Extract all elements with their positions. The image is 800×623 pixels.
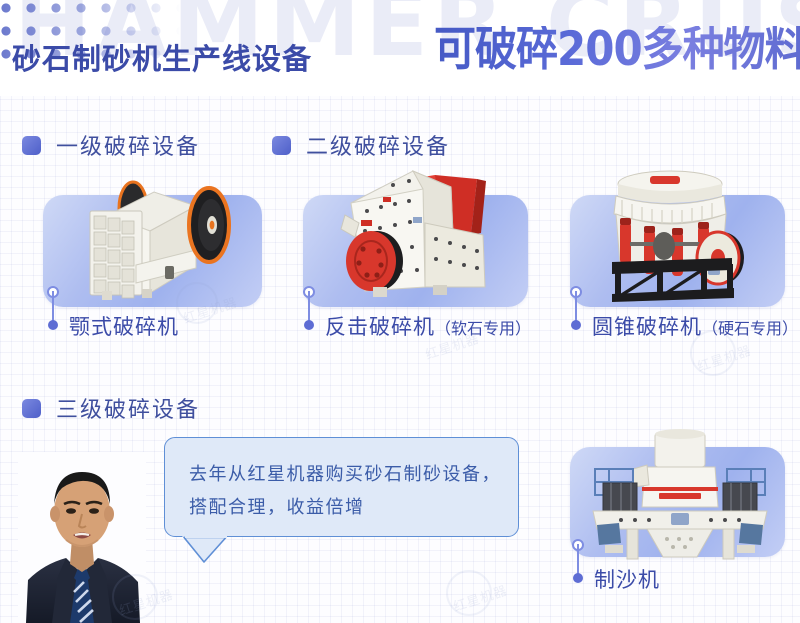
- connector-dot-icon: [304, 320, 314, 330]
- section-label: 一级破碎设备: [56, 129, 200, 161]
- watermark-ring-icon: [176, 282, 218, 324]
- connector-dot-icon: [48, 320, 58, 330]
- bullet-square-icon: [272, 136, 291, 155]
- jaw-crusher-photo: [46, 165, 261, 305]
- section-heading-tertiary: 三级破碎设备: [22, 392, 200, 424]
- header-banner: HAMMER CRUSHER 砂石制砂机生产线设备 可破碎200多种物料: [0, 0, 800, 96]
- section-label: 三级破碎设备: [56, 392, 200, 424]
- connector-dot-icon: [571, 320, 581, 330]
- product-name: 圆锥破碎机: [592, 315, 702, 339]
- section-heading-secondary: 二级破碎设备: [272, 129, 450, 161]
- connector-line: [308, 291, 310, 323]
- impact-crusher-photo: [305, 163, 530, 305]
- connector-line: [52, 291, 54, 323]
- section-label: 二级破碎设备: [306, 129, 450, 161]
- connector-dot-icon: [573, 573, 583, 583]
- watermark-ring-icon: [446, 570, 492, 616]
- bullet-square-icon: [22, 136, 41, 155]
- product-name: 颚式破碎机: [69, 315, 179, 339]
- connector-line: [577, 544, 579, 576]
- testimonial-bubble: 去年从红星机器购买砂石制砂设备， 搭配合理，收益倍增: [164, 437, 519, 537]
- page-title: 砂石制砂机生产线设备: [12, 36, 312, 78]
- sand-maker-photo: [575, 425, 785, 565]
- header-headline: 可破碎200多种物料: [434, 26, 800, 73]
- connector-line: [575, 291, 577, 323]
- watermark-ring-icon: [690, 330, 736, 376]
- section-heading-primary: 一级破碎设备: [22, 129, 200, 161]
- product-name: 反击破碎机: [325, 315, 435, 339]
- bullet-square-icon: [22, 399, 41, 418]
- product-name: 制沙机: [594, 568, 660, 592]
- cone-crusher-photo: [572, 160, 788, 305]
- testimonial-line-2: 搭配合理，收益倍增: [189, 491, 494, 524]
- watermark-ring-icon: [112, 574, 158, 620]
- testimonial-line-1: 去年从红星机器购买砂石制砂设备，: [189, 458, 494, 491]
- testimonial-bubble-tail: [176, 530, 230, 566]
